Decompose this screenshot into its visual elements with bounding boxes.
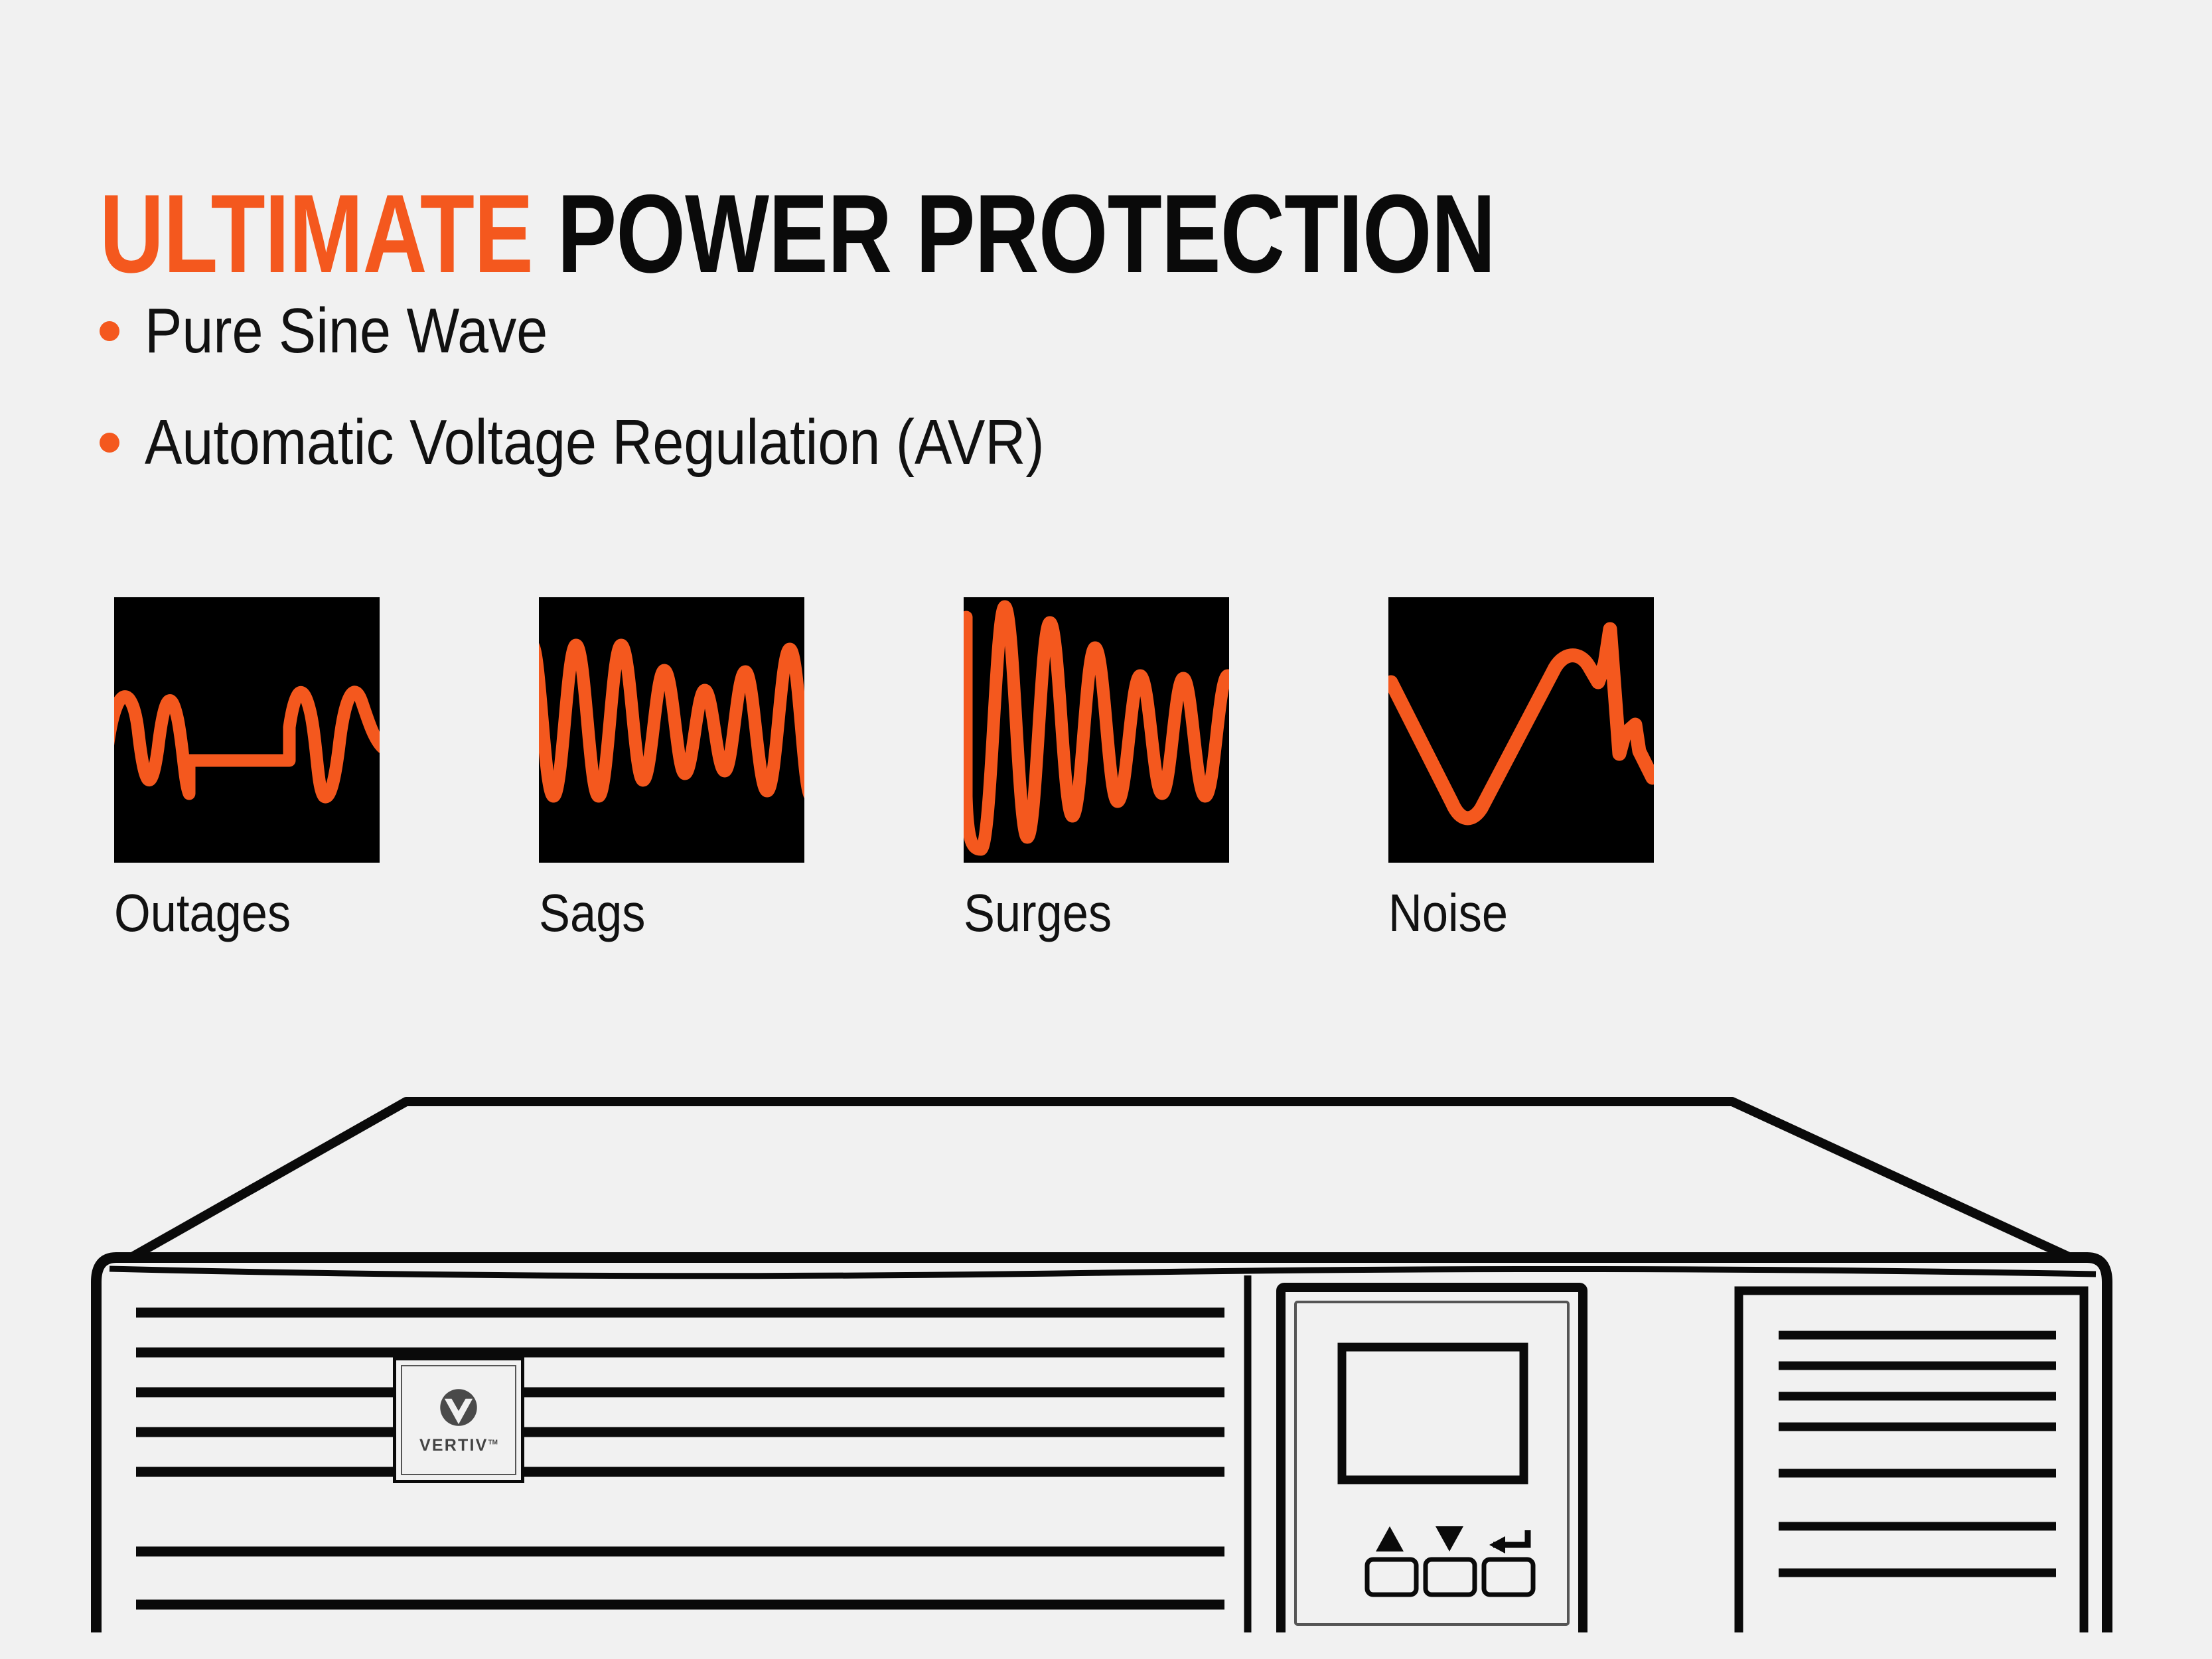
power-problem-outages: Outages bbox=[114, 597, 380, 940]
waveform-noise-icon bbox=[1388, 597, 1654, 863]
up-button bbox=[1367, 1559, 1416, 1595]
down-button bbox=[1426, 1559, 1475, 1595]
power-problem-label-surges: Surges bbox=[964, 887, 1197, 940]
power-problem-noise: Noise bbox=[1388, 597, 1654, 940]
waveform-outage-icon bbox=[114, 597, 380, 863]
waveform-sag-icon bbox=[539, 597, 804, 863]
list-item: Pure Sine Wave bbox=[100, 275, 1825, 387]
vertiv-wordmark-text: VERTIV bbox=[419, 1436, 488, 1455]
feature-label-avr: Automatic Voltage Regulation (AVR) bbox=[145, 411, 1045, 474]
rack-ups-illustration bbox=[0, 1062, 2212, 1632]
control-panel bbox=[1281, 1287, 1583, 1632]
list-item: Automatic Voltage Regulation (AVR) bbox=[100, 387, 1825, 498]
vertiv-wordmark: VERTIVTM bbox=[419, 1436, 498, 1455]
vertiv-logo-badge: VERTIVTM bbox=[393, 1357, 524, 1483]
bullet-dot-icon bbox=[100, 321, 119, 341]
device-top-panel bbox=[123, 1102, 2081, 1262]
enter-button bbox=[1484, 1559, 1533, 1595]
page-title: ULTIMATE POWER PROTECTION bbox=[100, 178, 1495, 289]
bullet-dot-icon bbox=[100, 433, 119, 453]
power-problem-label-sags: Sags bbox=[539, 887, 773, 940]
feature-label-pure-sine-wave: Pure Sine Wave bbox=[145, 299, 548, 363]
waveform-surge-icon bbox=[964, 597, 1229, 863]
vertiv-mark-icon bbox=[437, 1386, 480, 1429]
power-problem-icon-row: Outages Sags Surges Noise bbox=[114, 597, 1720, 909]
vertiv-trademark: TM bbox=[488, 1439, 498, 1446]
right-vent-group bbox=[1739, 1291, 2084, 1632]
feature-bullet-list: Pure Sine Wave Automatic Voltage Regulat… bbox=[100, 275, 1825, 498]
power-problem-sags: Sags bbox=[539, 597, 804, 940]
power-problem-surges: Surges bbox=[964, 597, 1229, 940]
lcd-display bbox=[1342, 1347, 1524, 1480]
power-problem-label-outages: Outages bbox=[114, 887, 348, 940]
power-problem-label-noise: Noise bbox=[1388, 887, 1622, 940]
